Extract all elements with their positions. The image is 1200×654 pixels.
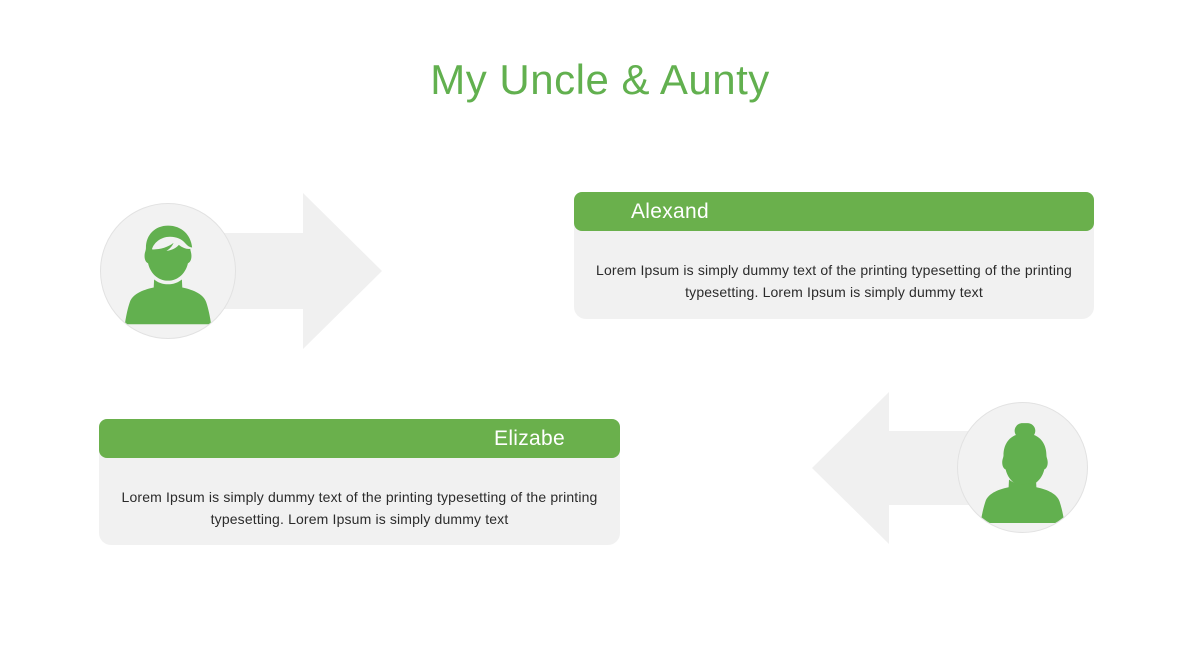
female-avatar-icon — [957, 402, 1088, 533]
person-name: Elizabe — [494, 428, 565, 449]
person-card-alexand[interactable]: Alexand Lorem Ipsum is simply dummy text… — [574, 192, 1094, 319]
card-body-alexand: Lorem Ipsum is simply dummy text of the … — [574, 225, 1094, 319]
card-header-elizabe: Elizabe — [99, 419, 620, 458]
card-header-alexand: Alexand — [574, 192, 1094, 231]
person-description: Lorem Ipsum is simply dummy text of the … — [592, 259, 1076, 303]
person-card-elizabe[interactable]: Elizabe Lorem Ipsum is simply dummy text… — [99, 419, 620, 545]
card-body-elizabe: Lorem Ipsum is simply dummy text of the … — [99, 452, 620, 545]
page-title: My Uncle & Aunty — [0, 54, 1200, 106]
slide-canvas: My Uncle & Aunty Alexand Lorem Ipsum is … — [0, 0, 1200, 654]
person-name: Alexand — [631, 201, 709, 222]
person-description: Lorem Ipsum is simply dummy text of the … — [117, 486, 602, 530]
male-avatar-icon — [100, 203, 236, 339]
